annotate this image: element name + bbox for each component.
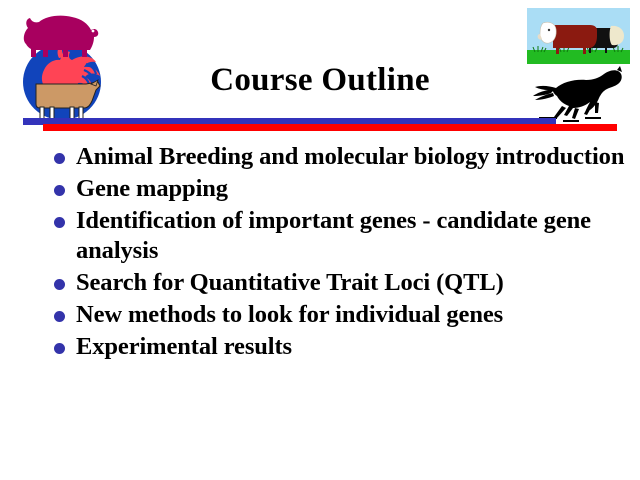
cattle-in-pasture-photo [527, 8, 630, 64]
bullet-dot-icon [54, 311, 65, 322]
page-title: Course Outline [120, 60, 520, 100]
list-item: Experimental results [48, 332, 628, 362]
galloping-horse-silhouette [523, 66, 633, 124]
list-item-label: Identification of important genes - cand… [76, 206, 628, 266]
bullet-dot-icon [54, 185, 65, 196]
presentation-slide: Course Outline [0, 0, 640, 480]
list-item: Identification of important genes - cand… [48, 206, 628, 266]
list-item: Gene mapping [48, 174, 628, 204]
list-item: Search for Quantitative Trait Loci (QTL) [48, 268, 628, 298]
divider-bar-red [43, 124, 617, 131]
horse-body-shape [533, 66, 622, 119]
outline-bullet-list: Animal Breeding and molecular biology in… [48, 142, 628, 364]
bullet-dot-icon [54, 217, 65, 228]
list-item-label: Gene mapping [76, 174, 628, 204]
list-item-label: New methods to look for individual genes [76, 300, 628, 330]
slide-header: Course Outline [0, 0, 640, 132]
list-item-label: Animal Breeding and molecular biology in… [76, 142, 628, 172]
list-item: Animal Breeding and molecular biology in… [48, 142, 628, 172]
bullet-dot-icon [54, 343, 65, 354]
list-item: New methods to look for individual genes [48, 300, 628, 330]
bullet-dot-icon [54, 153, 65, 164]
list-item-label: Experimental results [76, 332, 628, 362]
list-item-label: Search for Quantitative Trait Loci (QTL) [76, 268, 628, 298]
bullet-dot-icon [54, 279, 65, 290]
animal-science-logo [12, 4, 112, 126]
